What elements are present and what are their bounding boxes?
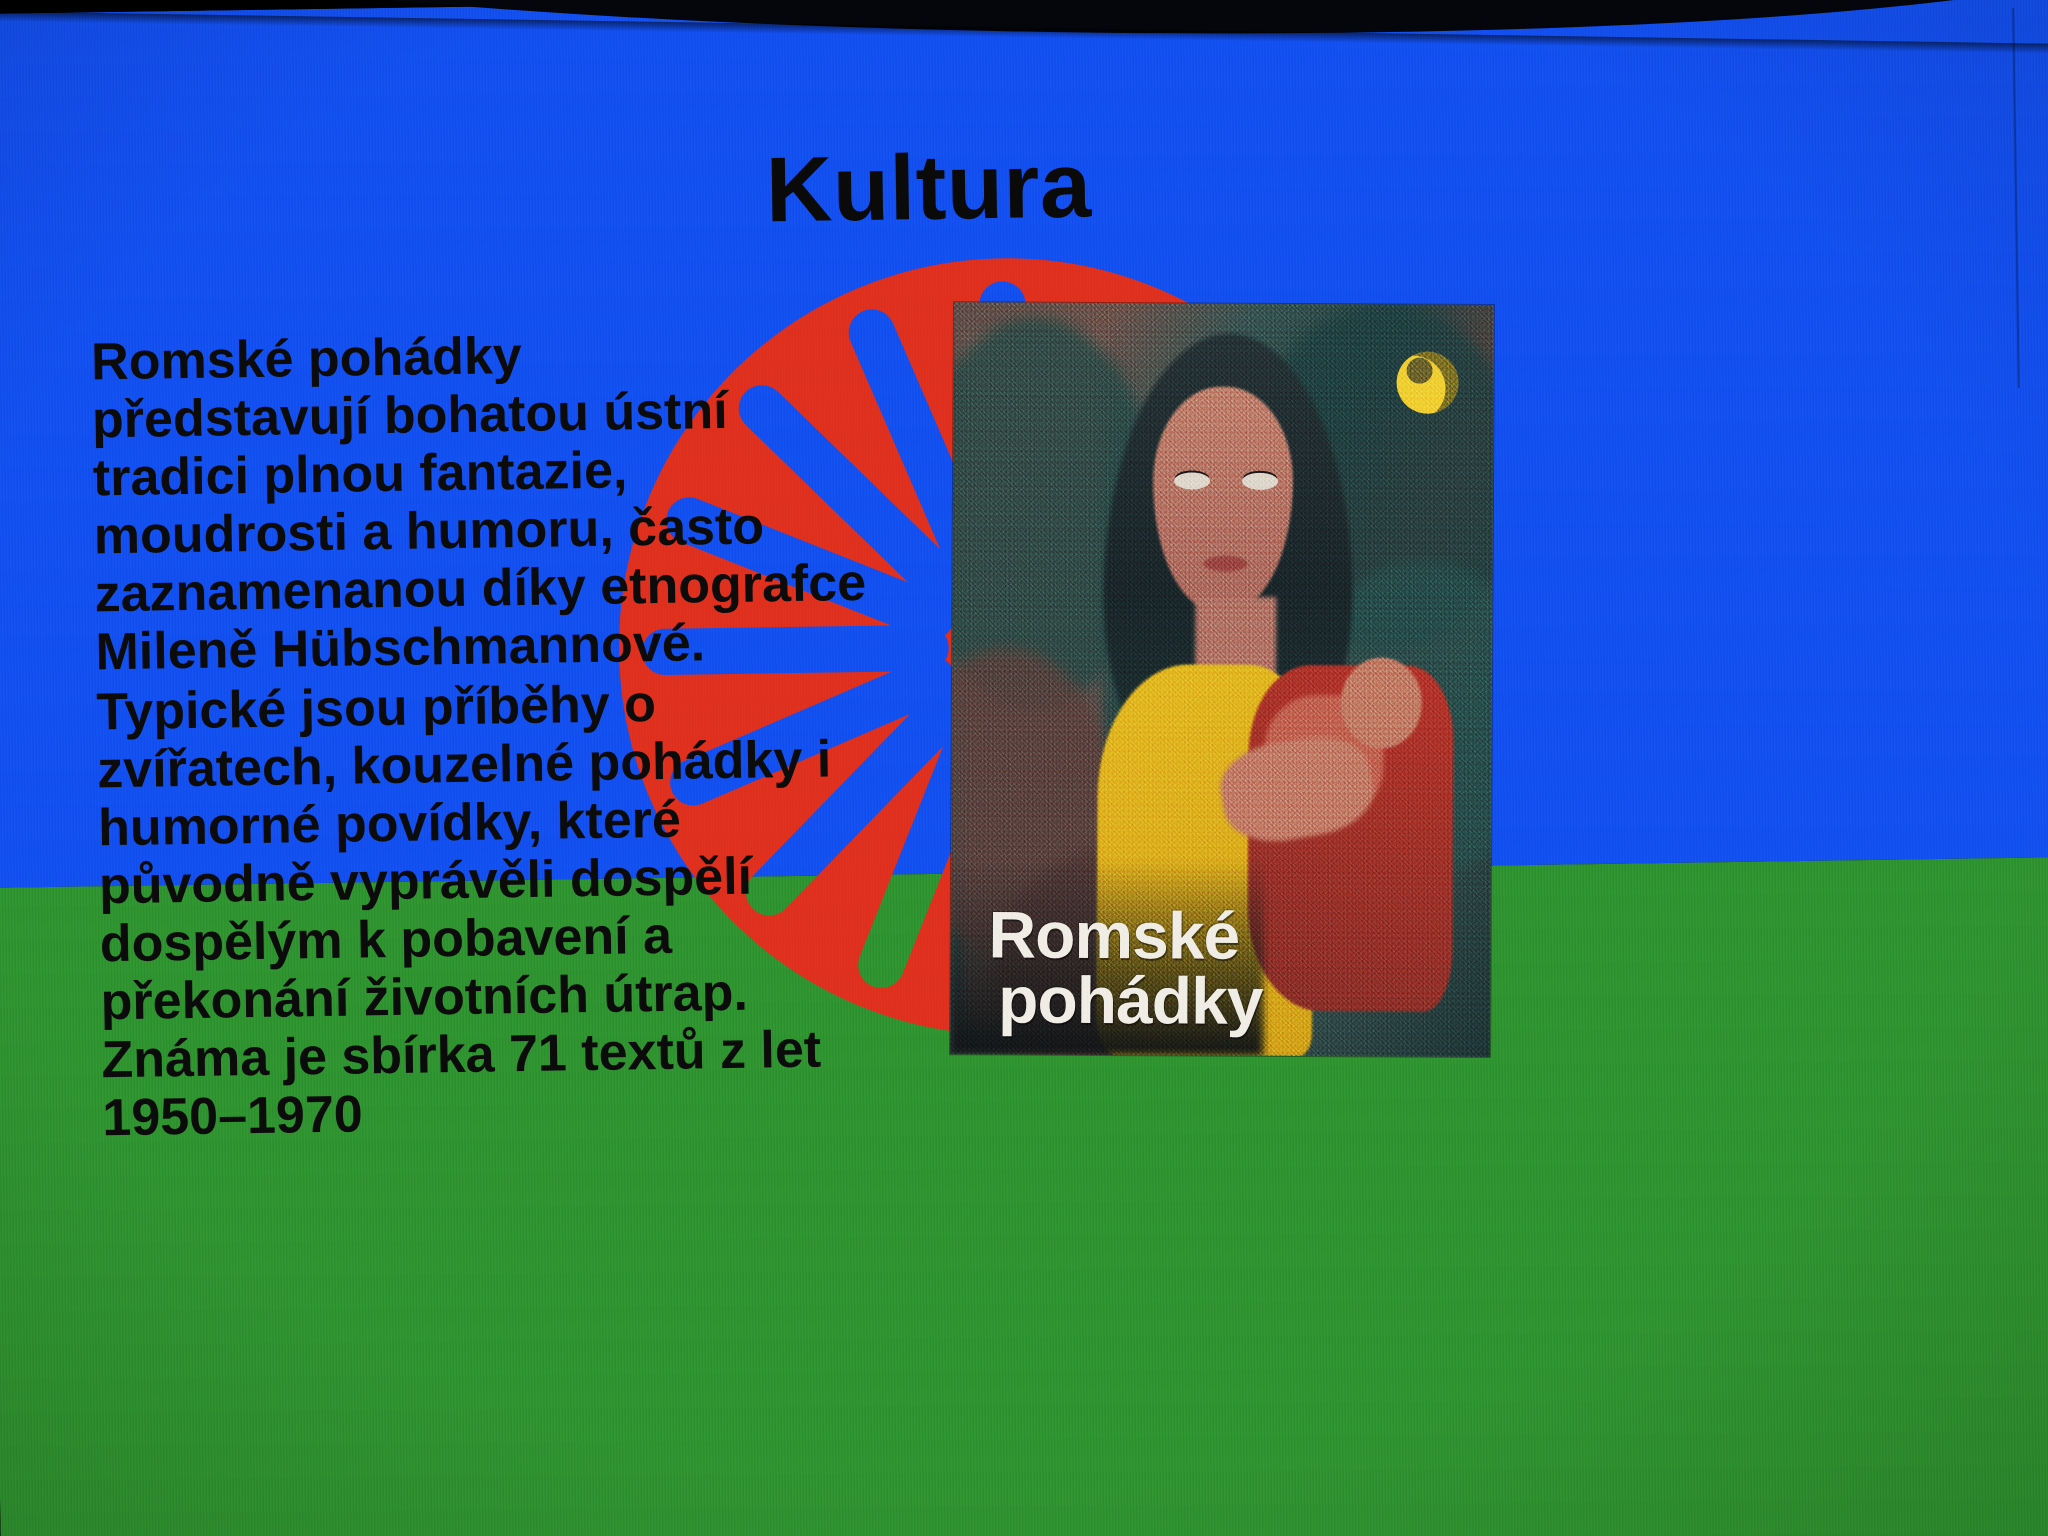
slide-body-text: Romské pohádky představují bohatou ústní… — [91, 320, 1063, 1148]
book-title-line-2: pohádky — [998, 967, 1263, 1033]
paragraph-1: Romské pohádky představují bohatou ústní… — [91, 320, 1056, 682]
book-cover-title: Romské pohádky — [988, 903, 1263, 1034]
book-cover-image: Romské pohádky — [950, 302, 1494, 1057]
presentation-slide: Kultura Romské pohádky představují bohat… — [0, 0, 2048, 1536]
paragraph-2: Typické jsou příběhy o zvířatech, kouzel… — [96, 670, 1063, 1148]
photographed-monitor: Kultura Romské pohádky představují bohat… — [0, 0, 2048, 1536]
book-title-line-1: Romské — [988, 898, 1239, 973]
